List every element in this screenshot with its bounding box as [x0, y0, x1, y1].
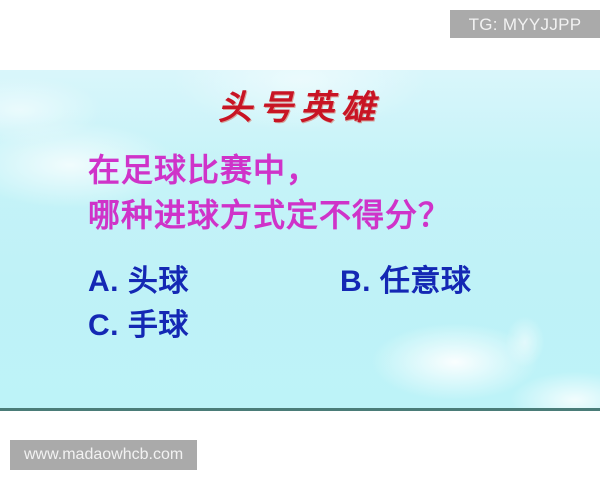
option-a[interactable]: A. 头球	[88, 262, 189, 302]
site-watermark: www.madaowhcb.com	[10, 440, 197, 470]
question-line-1: 在足球比赛中，	[88, 148, 588, 193]
tg-channel-label: TG: MYYJJPP	[469, 16, 582, 33]
question-block: 在足球比赛中， 哪种进球方式定不得分？	[88, 148, 588, 238]
quiz-panel: 头号英雄 在足球比赛中， 哪种进球方式定不得分？ A. 头球 B. 任意球 C.…	[0, 70, 600, 411]
option-row-2: C. 手球	[88, 306, 588, 350]
screenshot-root: TG: MYYJJPP 头号英雄 在足球比赛中， 哪种进球方式定不得分？ A. …	[0, 0, 600, 480]
question-line-2: 哪种进球方式定不得分？	[88, 193, 588, 238]
site-watermark-url: www.madaowhcb.com	[24, 447, 183, 463]
options-block: A. 头球 B. 任意球 C. 手球	[88, 262, 588, 350]
option-row-1: A. 头球 B. 任意球	[88, 262, 588, 306]
option-c[interactable]: C. 手球	[88, 306, 189, 346]
tg-channel-badge: TG: MYYJJPP	[450, 10, 600, 38]
option-b[interactable]: B. 任意球	[340, 262, 471, 302]
quiz-title: 头号英雄	[0, 92, 600, 126]
